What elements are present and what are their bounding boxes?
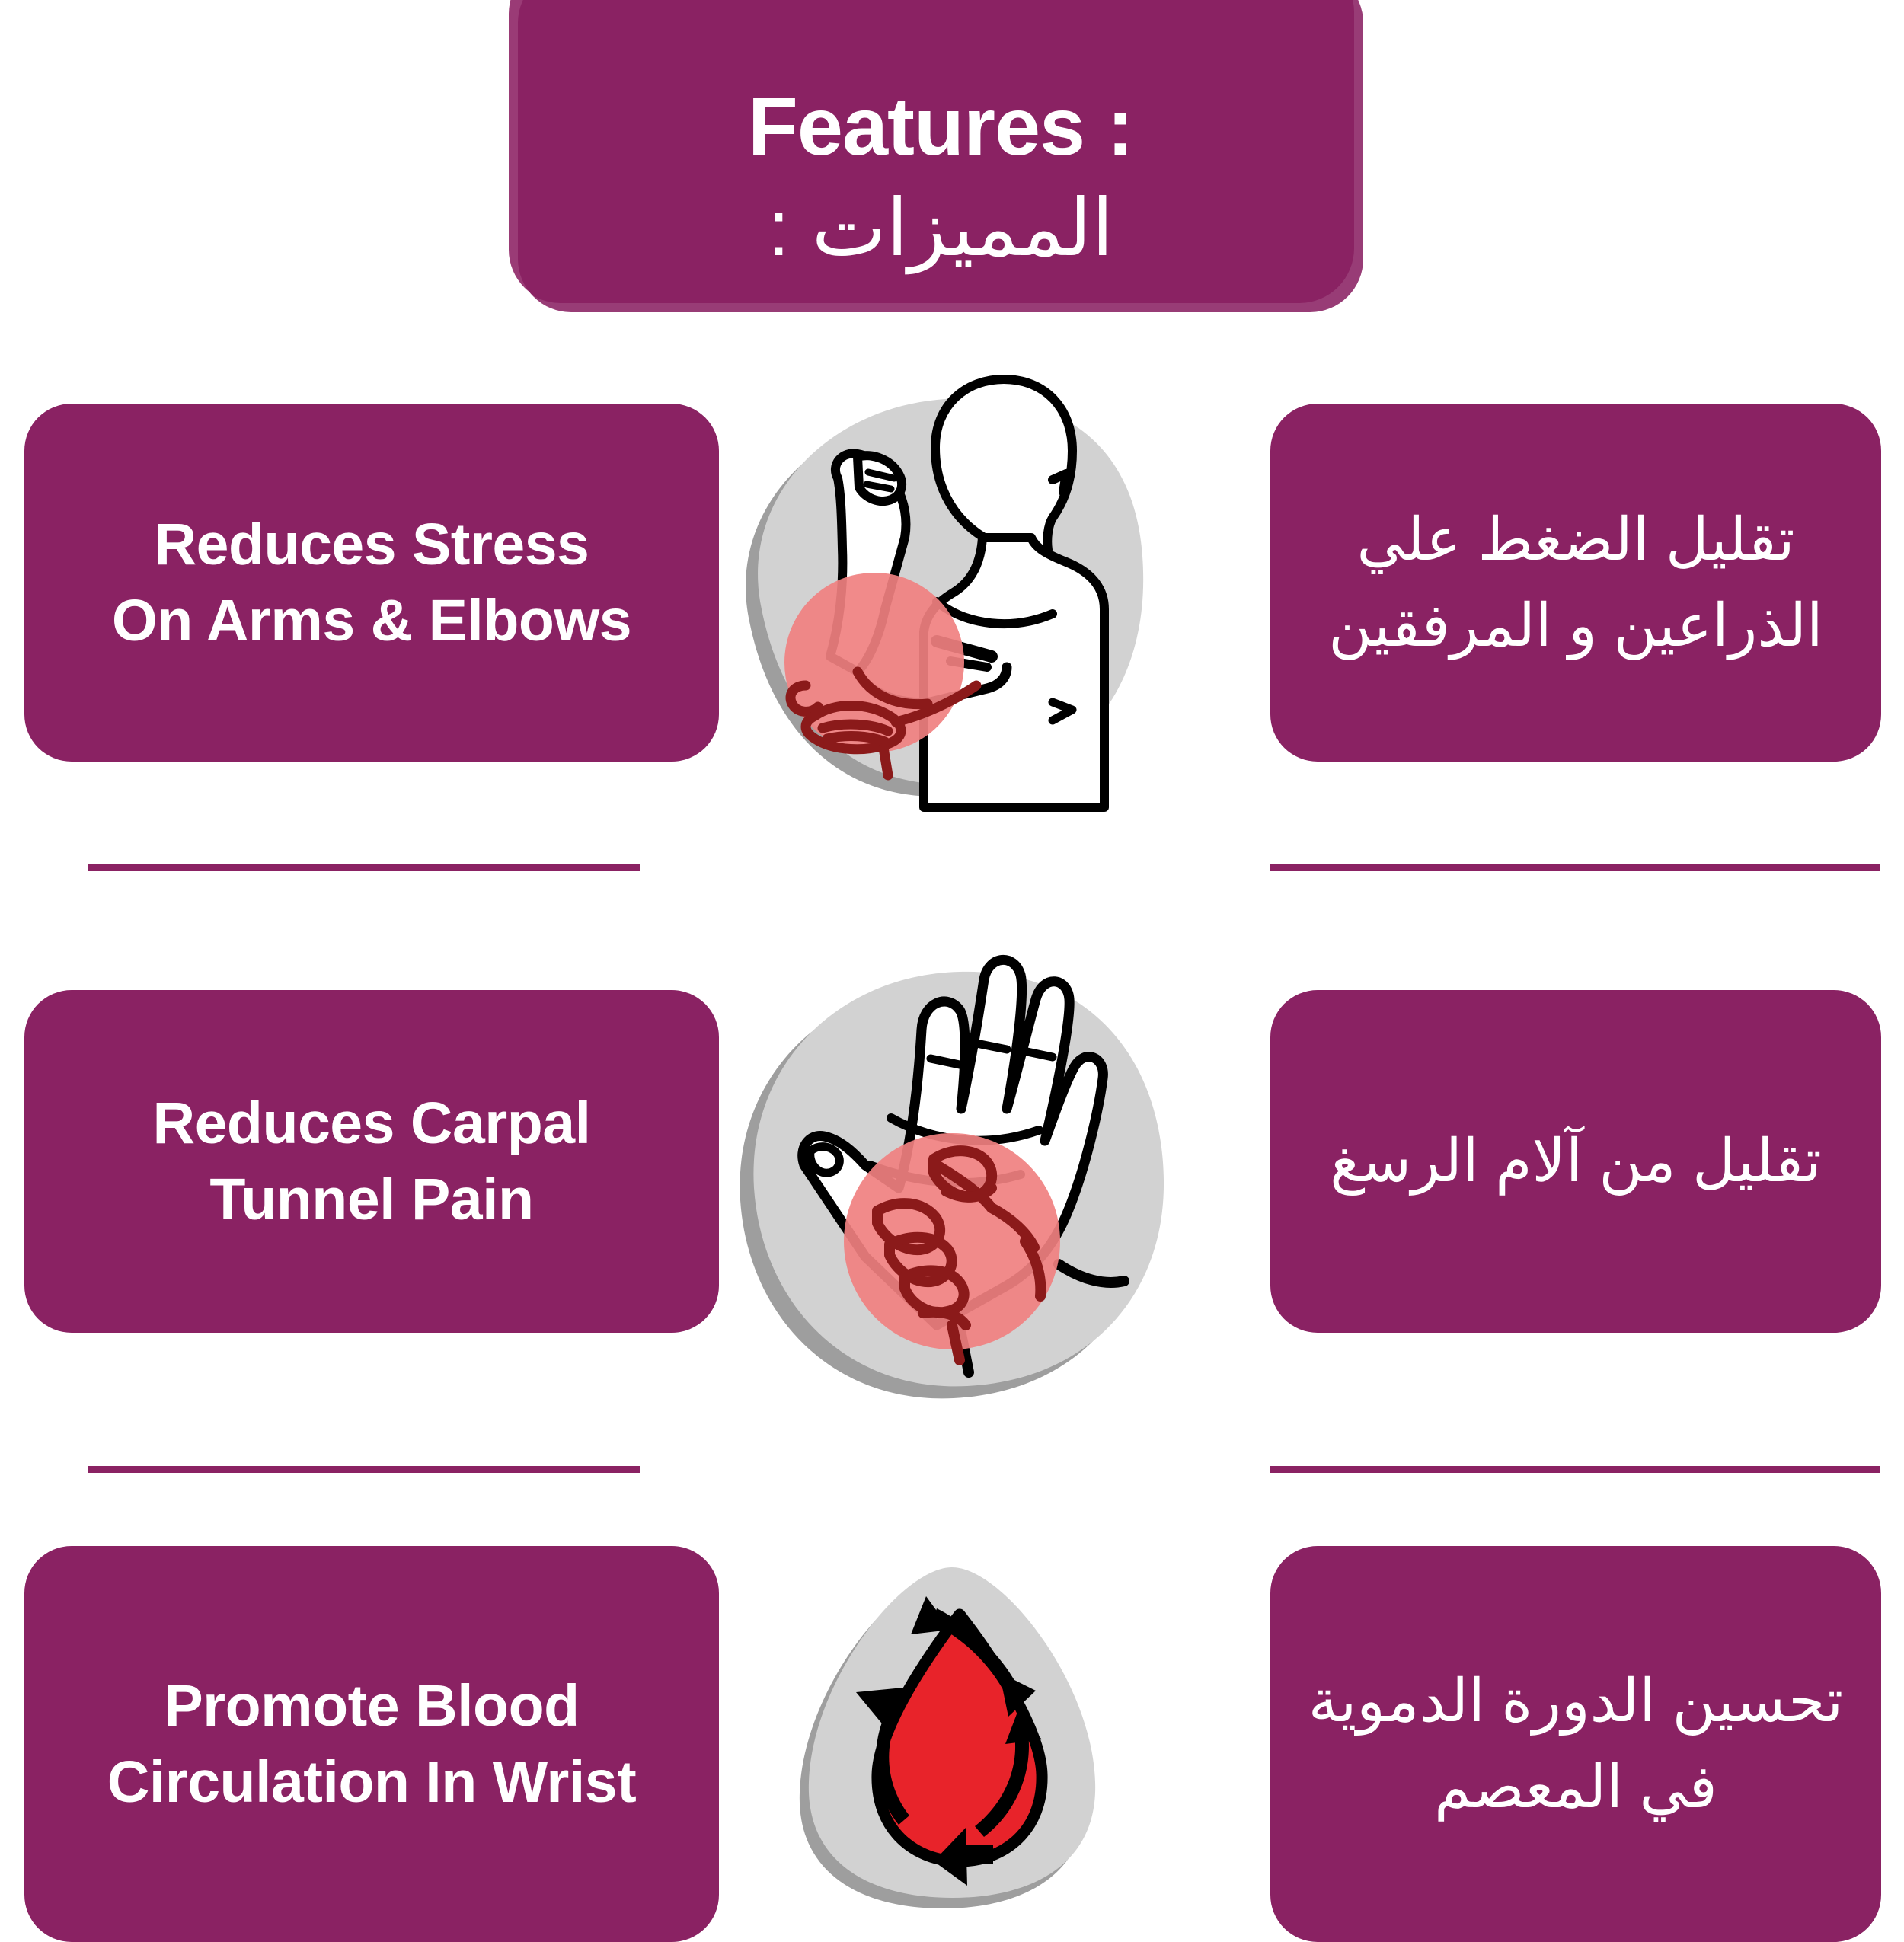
feature-2-label-en-line1: Reduces Carpal	[152, 1091, 590, 1156]
feature-2-label-ar: تقليل من آلام الرسغ	[1330, 1118, 1822, 1204]
feature-row-3: Promote Blood Circulation In Wrist	[0, 1546, 1904, 1904]
page-title-en: Features :	[748, 83, 1133, 169]
feature-1-illustration	[708, 358, 1196, 819]
header-card: Features : المميزات :	[518, 0, 1363, 312]
feature-3-label-en: Promote Blood Circulation In Wrist	[107, 1668, 636, 1820]
divider-left-2	[88, 1466, 640, 1473]
page-title-ar: المميزات :	[768, 177, 1113, 280]
feature-2-illustration	[708, 937, 1196, 1428]
feature-1-label-ar-line1: تقليل الضغط علي	[1356, 506, 1794, 573]
divider-left-1	[88, 864, 640, 871]
feature-3-label-ar-line1: تحسين الدورة الدموية	[1308, 1667, 1843, 1734]
feature-2-label-en: Reduces Carpal Tunnel Pain	[152, 1085, 590, 1238]
feature-row-1: Reduces Stress On Arms & Elbows	[0, 404, 1904, 762]
divider-right-1	[1270, 864, 1880, 871]
feature-1-label-en: Reduces Stress On Arms & Elbows	[112, 506, 631, 659]
feature-2-label-en-line2: Tunnel Pain	[209, 1167, 533, 1232]
feature-1-label-ar: تقليل الضغط علي الذراعين و المرفقين	[1328, 497, 1823, 669]
feature-3-label-ar-line2: في المعصم	[1434, 1753, 1717, 1820]
feature-2-label-card-ar: تقليل من آلام الرسغ	[1270, 990, 1881, 1333]
feature-3-illustration	[784, 1554, 1120, 1915]
feature-3-label-en-line1: Promote Blood	[164, 1673, 579, 1739]
feature-3-label-ar: تحسين الدورة الدموية في المعصم	[1308, 1658, 1843, 1830]
feature-2-label-ar-line1: تقليل من آلام الرسغ	[1330, 1127, 1822, 1194]
feature-1-label-card-en: Reduces Stress On Arms & Elbows	[24, 404, 719, 762]
feature-1-label-card-ar: تقليل الضغط علي الذراعين و المرفقين	[1270, 404, 1881, 762]
feature-3-label-card-en: Promote Blood Circulation In Wrist	[24, 1546, 719, 1942]
infographic-canvas: Features : المميزات : Reduces Stress On …	[0, 0, 1904, 1904]
arm-elbow-pain-illustration	[708, 358, 1196, 815]
wrist-carpal-tunnel-illustration	[708, 937, 1196, 1424]
feature-2-label-card-en: Reduces Carpal Tunnel Pain	[24, 990, 719, 1333]
divider-right-2	[1270, 1466, 1880, 1473]
feature-3-label-card-ar: تحسين الدورة الدموية في المعصم	[1270, 1546, 1881, 1942]
feature-1-label-en-line2: On Arms & Elbows	[112, 588, 631, 653]
feature-3-label-en-line2: Circulation In Wrist	[107, 1749, 636, 1815]
feature-1-label-en-line1: Reduces Stress	[155, 512, 589, 577]
feature-row-2: Reduces Carpal Tunnel Pain	[0, 990, 1904, 1333]
blood-circulation-drop-icon	[784, 1554, 1120, 1912]
feature-1-label-ar-line2: الذراعين و المرفقين	[1328, 592, 1823, 659]
